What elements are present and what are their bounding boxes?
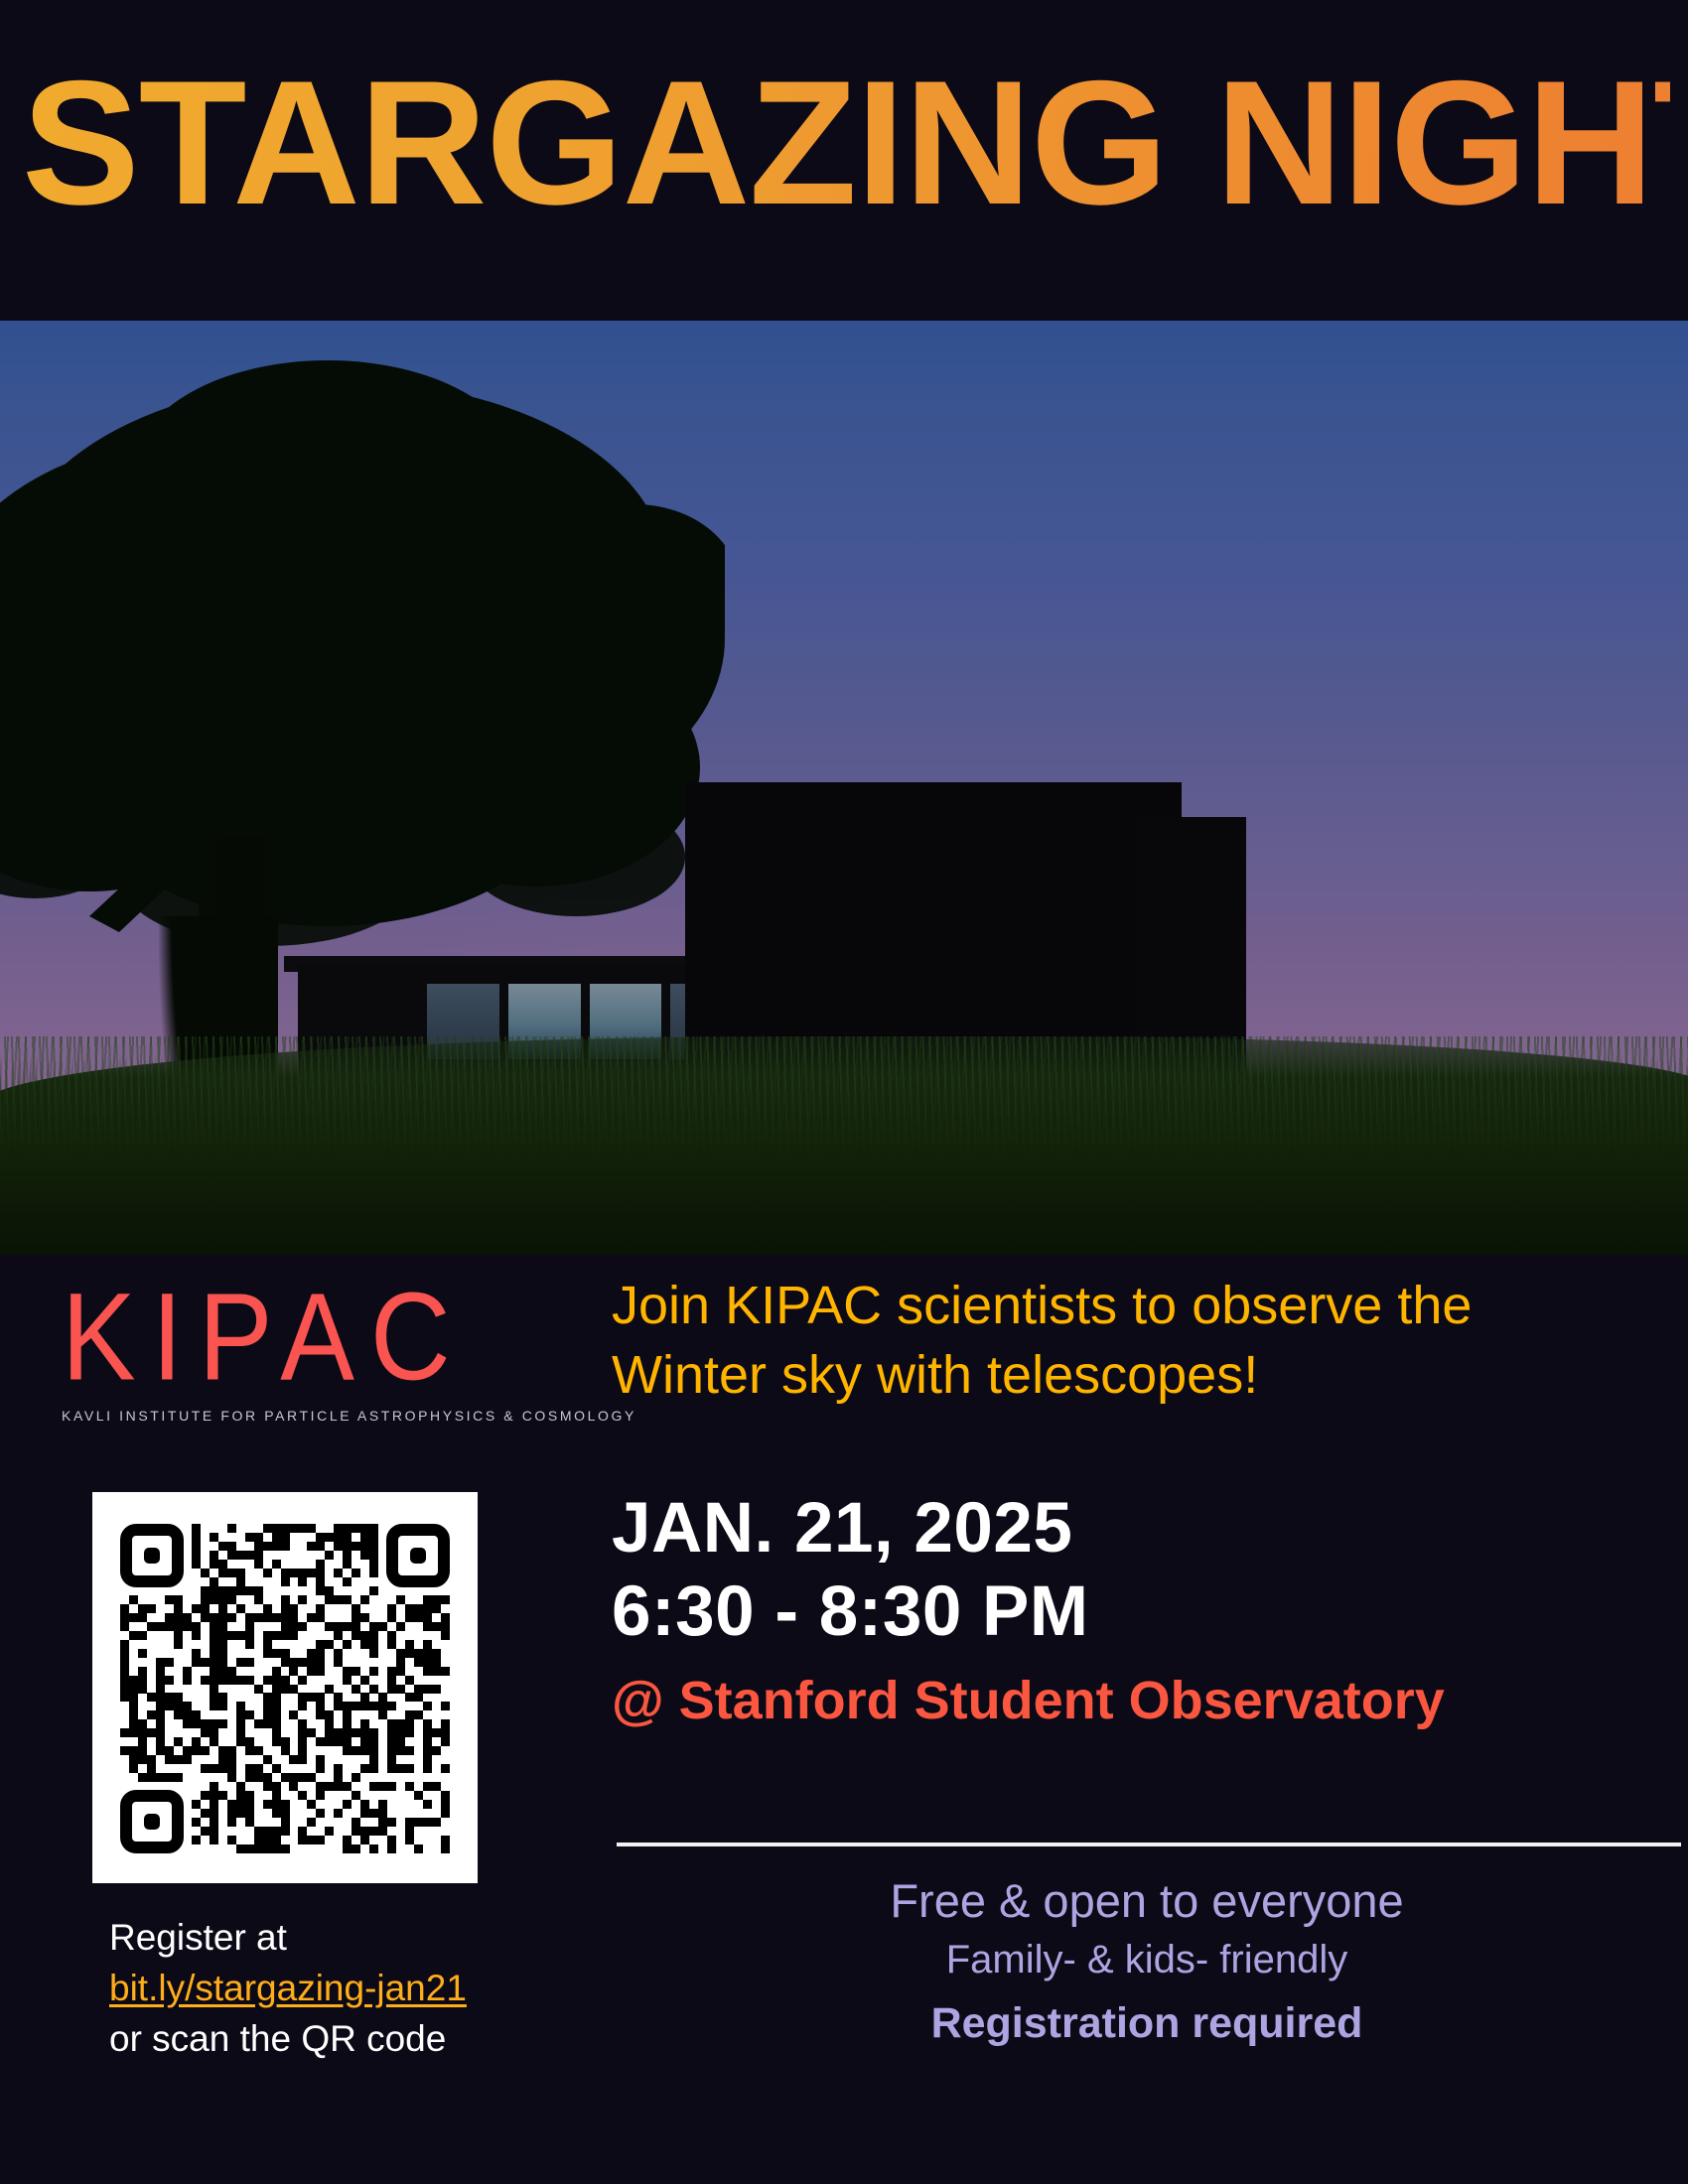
register-prefix: Register at	[109, 1912, 626, 1963]
stargazing-night-poster: STARGAZING NIGHT	[0, 0, 1688, 2184]
qr-finder-top-left	[120, 1524, 184, 1587]
kipac-logo: KIPAC KAVLI INSTITUTE FOR PARTICLE ASTRO…	[62, 1275, 578, 1424]
tagline-line-1: Join KIPAC scientists to observe the	[612, 1271, 1664, 1340]
poster-content: KIPAC KAVLI INSTITUTE FOR PARTICLE ASTRO…	[0, 1255, 1688, 2184]
event-tagline: Join KIPAC scientists to observe the Win…	[612, 1271, 1664, 1410]
qr-finder-bottom-left	[120, 1790, 184, 1853]
kipac-subtitle: KAVLI INSTITUTE FOR PARTICLE ASTROPHYSIC…	[62, 1408, 578, 1424]
event-details: JAN. 21, 2025 6:30 - 8:30 PM @ Stanford …	[612, 1487, 1684, 1732]
note-family-friendly: Family- & kids- friendly	[612, 1931, 1682, 1988]
note-registration-required: Registration required	[612, 1992, 1682, 2054]
oak-tree-silhouette	[0, 341, 725, 976]
grass-foreground	[0, 1036, 1688, 1255]
registration-instructions: Register at bit.ly/stargazing-jan21 or s…	[109, 1912, 626, 2064]
event-date: JAN. 21, 2025	[612, 1487, 1684, 1570]
event-location: @ Stanford Student Observatory	[612, 1670, 1684, 1733]
title-band: STARGAZING NIGHT	[0, 0, 1688, 321]
tagline-line-2: Winter sky with telescopes!	[612, 1340, 1664, 1410]
event-time: 6:30 - 8:30 PM	[612, 1570, 1684, 1654]
section-divider	[617, 1843, 1681, 1846]
observatory-photo	[0, 321, 1688, 1255]
qr-code[interactable]	[92, 1492, 478, 1883]
register-suffix: or scan the QR code	[109, 2013, 626, 2064]
note-free-open: Free & open to everyone	[612, 1870, 1682, 1931]
qr-finder-top-right	[386, 1524, 450, 1587]
kipac-wordmark: KIPAC	[62, 1275, 578, 1399]
registration-link[interactable]: bit.ly/stargazing-jan21	[109, 1963, 626, 2013]
qr-code-matrix	[120, 1524, 450, 1853]
page-title: STARGAZING NIGHT	[22, 55, 1670, 231]
event-notes: Free & open to everyone Family- & kids- …	[612, 1870, 1682, 2054]
